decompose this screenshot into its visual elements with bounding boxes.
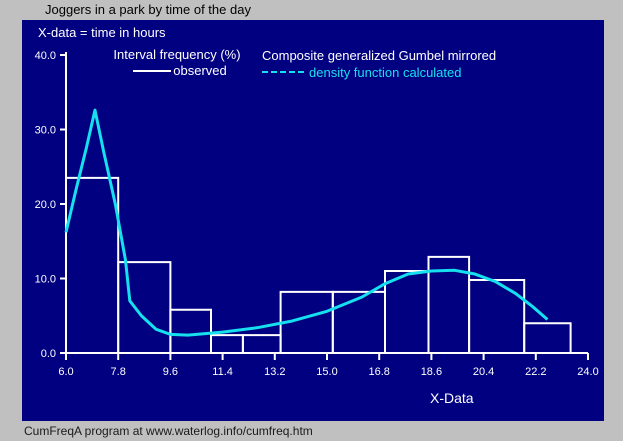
histogram-bar [469, 280, 524, 353]
x-tick-label: 7.8 [111, 366, 126, 378]
x-tick-label: 11.4 [212, 366, 233, 378]
x-tick-label: 15.0 [316, 366, 337, 378]
histogram-bar [211, 335, 243, 353]
chart-super-title: Joggers in a park by time of the day [45, 2, 251, 17]
x-tick-label: 24.0 [577, 366, 598, 378]
x-tick-label: 18.6 [421, 366, 442, 378]
plot-area: 0.010.020.030.040.0 6.07.89.611.413.215.… [22, 20, 604, 421]
x-tick-label: 6.0 [58, 366, 73, 378]
x-tick-label: 16.8 [368, 366, 389, 378]
chart-svg: 0.010.020.030.040.0 6.07.89.611.413.215.… [22, 20, 604, 421]
histogram-bar [243, 335, 281, 353]
histogram-bar [524, 323, 570, 353]
app-window: Joggers in a park by time of the day X-d… [0, 0, 623, 441]
x-tick-label: 13.2 [264, 366, 285, 378]
x-tick-label: 20.4 [473, 366, 494, 378]
y-tick-label: 30.0 [35, 125, 56, 137]
x-tick-label: 22.2 [525, 366, 546, 378]
histogram-bar [333, 292, 385, 353]
histogram-bars [66, 178, 571, 353]
x-tick-label: 9.6 [163, 366, 178, 378]
histogram-bar [170, 310, 211, 353]
y-tick-label: 10.0 [35, 274, 56, 286]
y-tick-label: 0.0 [41, 348, 56, 360]
chart-panel: X-data = time in hours 0.010.020.030.040… [22, 20, 604, 421]
density-curve-path [66, 110, 547, 335]
x-axis-title: X-Data [430, 390, 474, 406]
y-axis-ticks: 0.010.020.030.040.0 [35, 50, 66, 360]
x-axis-ticks: 6.07.89.611.413.215.016.818.620.422.224.… [58, 353, 598, 378]
footer-credit: CumFreqA program at www.waterlog.info/cu… [24, 424, 313, 438]
histogram-bar [385, 271, 429, 353]
y-tick-label: 20.0 [35, 199, 56, 211]
y-tick-label: 40.0 [35, 50, 56, 62]
density-curve [66, 110, 547, 335]
